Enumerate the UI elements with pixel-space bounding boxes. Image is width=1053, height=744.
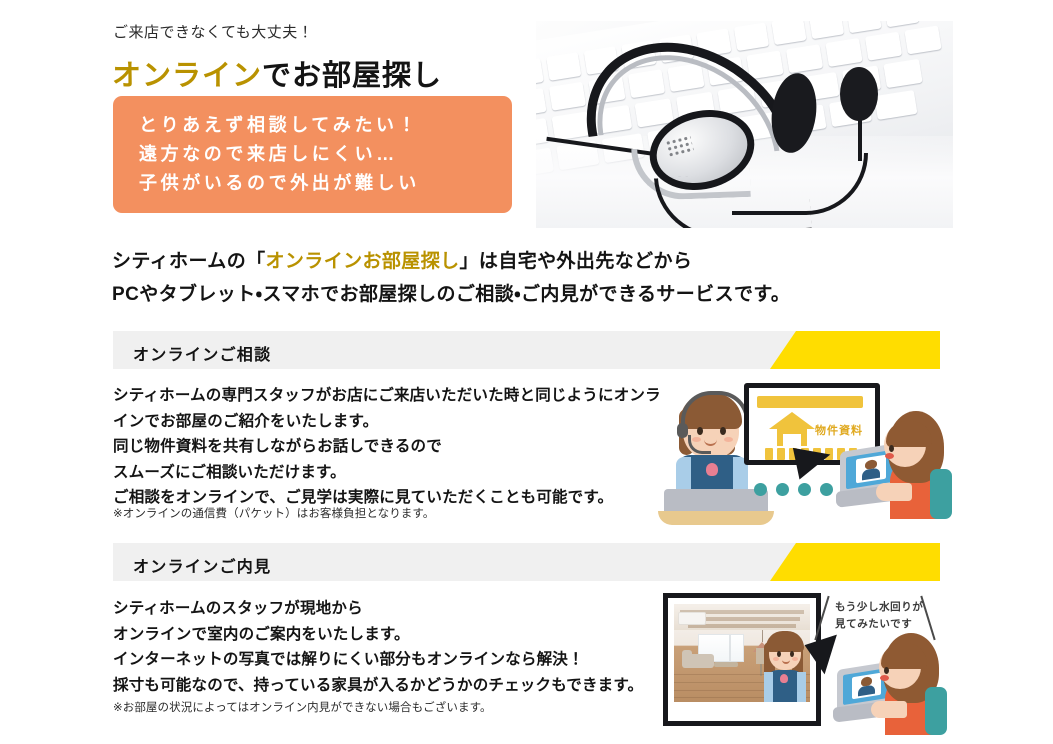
lead-line-1-pre: シティホームの「 bbox=[112, 251, 266, 272]
section-heading-consultation: オンラインご相談 bbox=[133, 341, 271, 365]
consultation-body-line-4: スムーズにご相談いただけます。 bbox=[113, 460, 661, 486]
connection-dot bbox=[820, 483, 833, 496]
handwrite-line-1: もう少し水回りが bbox=[835, 599, 924, 616]
headset-graphic bbox=[536, 21, 953, 228]
agent-headset-icon bbox=[681, 391, 749, 439]
consultation-body-line-1: シティホームの専門スタッフがお店にご来店いただいた時と同じようにオンラ bbox=[113, 383, 661, 409]
bubble-tail bbox=[788, 448, 831, 484]
lead-line-2: PCやタブレット・スマホでお部屋探しのご相談・ご内見ができるサービスです。 bbox=[112, 278, 790, 311]
handwrite-line-2: 見てみたいです bbox=[835, 616, 924, 633]
online-consultation-illustration: 物件資料 bbox=[650, 375, 950, 520]
callout-line-1: とりあえず相談してみたい！ bbox=[139, 111, 512, 140]
connection-dot bbox=[776, 483, 789, 496]
hero-callout-box: とりあえず相談してみたい！ 遠方なので来店しにくい… 子供がいるので外出が難しい bbox=[113, 96, 512, 213]
lead-line-1-accent: オンラインお部屋探し bbox=[266, 251, 460, 272]
agent-figure-on-site bbox=[758, 626, 810, 702]
lead-line-1: シティホームの「オンラインお部屋探し」は自宅や外出先などから bbox=[112, 245, 790, 278]
viewing-body-line-3: インターネットの写真では解りにくい部分もオンラインなら解決！ bbox=[113, 647, 643, 673]
customer-figure bbox=[840, 413, 950, 520]
hero-eyebrow: ご来店できなくても大丈夫！ bbox=[113, 21, 313, 42]
page-root: ご来店できなくても大丈夫！ オンラインでお部屋探し とりあえず相談してみたい！ … bbox=[0, 0, 1053, 744]
consultation-body-line-3: 同じ物件資料を共有しながらお話しできるので bbox=[113, 434, 661, 460]
consultation-body-line-2: インでお部屋のご紹介をいたします。 bbox=[113, 409, 661, 435]
lead-line-1-post: 」は自宅や外出先などから bbox=[460, 251, 693, 272]
consultation-note: ※オンラインの通信費（パケット）はお客様負担となります。 bbox=[113, 505, 434, 521]
connection-dot bbox=[798, 483, 811, 496]
viewing-body-text: シティホームのスタッフが現地から オンラインで室内のご案内をいたします。 インタ… bbox=[113, 596, 643, 698]
page-title-accent: オンライン bbox=[112, 60, 262, 92]
room-photo-frame bbox=[663, 593, 821, 726]
online-viewing-illustration: もう少し水回りが 見てみたいです bbox=[655, 585, 945, 735]
headset-keyboard-photo bbox=[536, 21, 953, 228]
page-title: オンラインでお部屋探し bbox=[112, 52, 442, 94]
room-photo bbox=[674, 604, 810, 702]
section-header-viewing: オンラインご内見 bbox=[113, 543, 940, 581]
customer-chair bbox=[930, 469, 952, 519]
lead-paragraph: シティホームの「オンラインお部屋探し」は自宅や外出先などから PCやタブレット・… bbox=[112, 245, 790, 311]
consultation-body-text: シティホームの専門スタッフがお店にご来店いただいた時と同じようにオンラ インでお… bbox=[113, 383, 661, 511]
section-header-consultation: オンラインご相談 bbox=[113, 331, 940, 369]
section-heading-viewing: オンラインご内見 bbox=[133, 553, 271, 577]
viewing-handwrite-note: もう少し水回りが 見てみたいです bbox=[835, 599, 924, 633]
connection-dot bbox=[754, 483, 767, 496]
viewing-body-line-4: 採寸も可能なので、持っている家具が入るかどうかのチェックもできます。 bbox=[113, 673, 643, 699]
viewing-note: ※お部屋の状況によってはオンライン内見ができない場合もございます。 bbox=[113, 699, 492, 715]
page-title-plain: でお部屋探し bbox=[262, 60, 442, 92]
callout-line-3: 子供がいるので外出が難しい bbox=[139, 169, 512, 198]
viewing-body-line-1: シティホームのスタッフが現地から bbox=[113, 596, 643, 622]
callout-line-2: 遠方なので来店しにくい… bbox=[139, 140, 512, 169]
section-flag-shape bbox=[770, 543, 940, 581]
customer-figure bbox=[837, 645, 947, 735]
house-icon bbox=[769, 412, 815, 429]
viewing-body-line-2: オンラインで室内のご案内をいたします。 bbox=[113, 622, 643, 648]
section-flag-shape bbox=[770, 331, 940, 369]
customer-chair bbox=[925, 687, 947, 735]
